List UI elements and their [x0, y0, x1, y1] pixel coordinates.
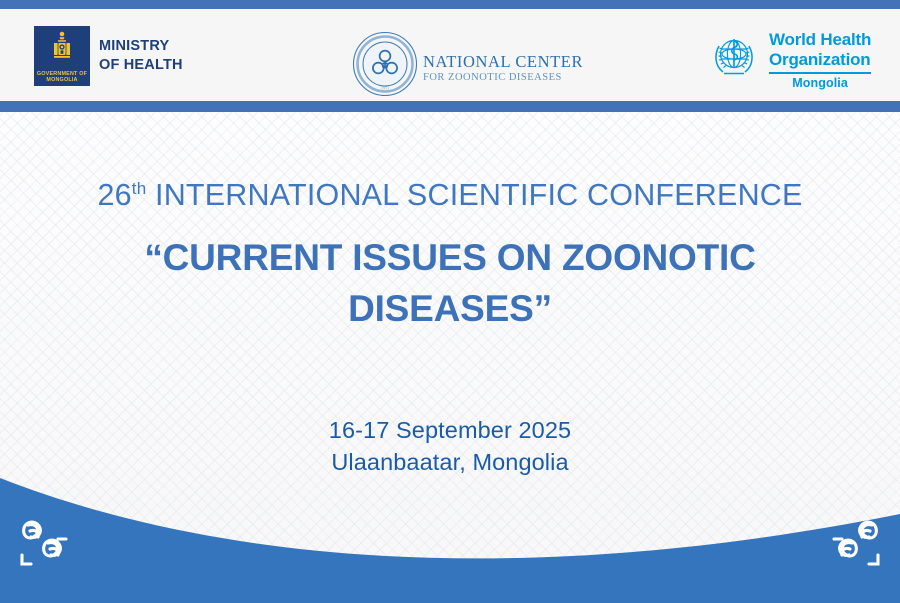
who-divider — [769, 72, 871, 74]
ministry-name: MINISTRY OF HEALTH — [99, 37, 183, 75]
crest-caption: GOVERNMENT OF MONGOLIA — [34, 71, 90, 84]
conference-theme: “CURRENT ISSUES ON ZOONOTIC DISEASES” — [0, 232, 900, 334]
ministry-of-health-logo: GOVERNMENT OF MONGOLIA MINISTRY OF HEALT… — [34, 26, 183, 86]
mongolia-government-crest: GOVERNMENT OF MONGOLIA — [34, 26, 90, 86]
conference-ordinal: th — [132, 179, 147, 198]
conference-title-slide: GOVERNMENT OF MONGOLIA MINISTRY OF HEALT… — [0, 0, 900, 603]
who-name: World Health Organization Mongolia — [769, 28, 871, 90]
who-emblem-icon — [706, 28, 762, 84]
national-center-logo: 1951 NATIONAL CENTER FOR ZOONOTIC DISEAS… — [352, 31, 583, 97]
national-center-name: NATIONAL CENTER FOR ZOONOTIC DISEASES — [423, 45, 583, 84]
biohazard-seal-icon: 1951 — [352, 31, 418, 97]
wave-band — [0, 478, 900, 603]
mongolian-knot-ornament-right-icon — [812, 515, 886, 577]
logo-header: GOVERNMENT OF MONGOLIA MINISTRY OF HEALT… — [0, 9, 900, 101]
header-divider-bar — [0, 101, 900, 112]
conference-heading: 26th INTERNATIONAL SCIENTIFIC CONFERENCE — [0, 176, 900, 214]
mongolia-soyombo-icon — [47, 31, 77, 65]
title-block: 26th INTERNATIONAL SCIENTIFIC CONFERENCE… — [0, 176, 900, 334]
seal-year: 1951 — [381, 86, 389, 91]
event-date: 16-17 September 2025 — [0, 414, 900, 446]
top-accent-bar — [0, 0, 900, 9]
conference-number: 26 — [97, 178, 131, 212]
mongolian-knot-ornament-left-icon — [14, 515, 88, 577]
conference-heading-text: INTERNATIONAL SCIENTIFIC CONFERENCE — [146, 178, 802, 212]
who-logo: World Health Organization Mongolia — [706, 28, 871, 90]
bottom-wave-decoration — [0, 468, 900, 603]
